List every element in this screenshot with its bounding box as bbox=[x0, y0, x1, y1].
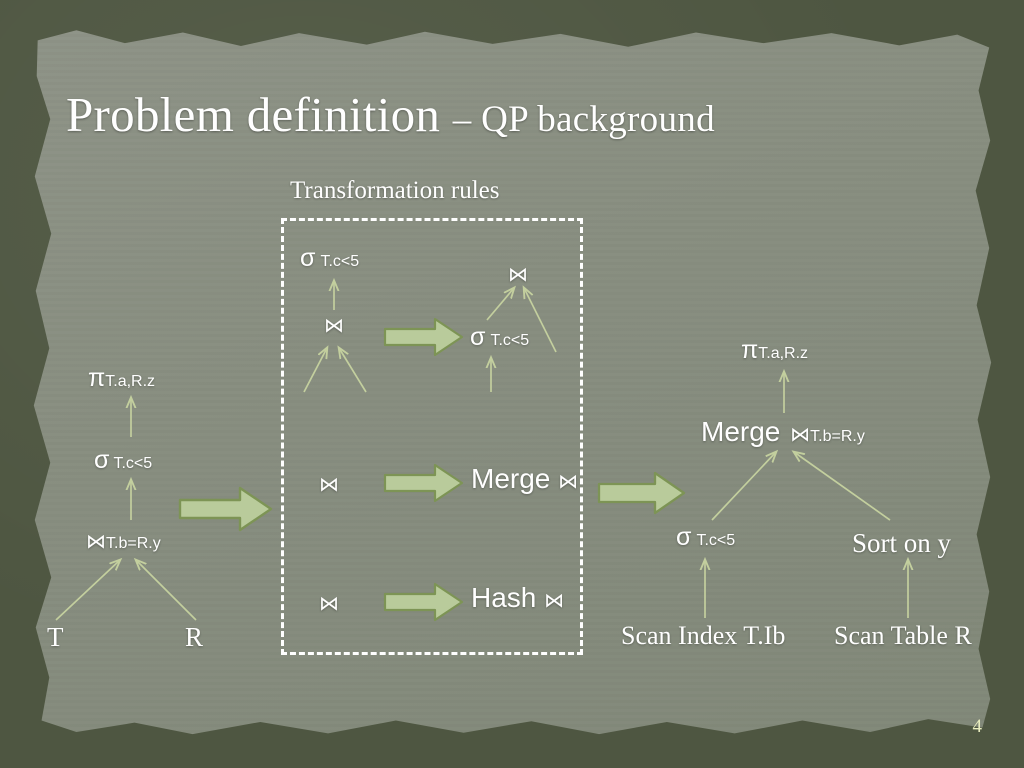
select-subscript: T.c<5 bbox=[490, 332, 529, 349]
right-plan-leaf-scan-table: Scan Table R bbox=[834, 621, 972, 651]
rule-1-lhs-join: ⋈ bbox=[324, 313, 344, 338]
right-plan-node-project: πT.a,R.z bbox=[741, 338, 808, 363]
rule-3-rhs-hash-join: Hash ⋈ bbox=[471, 582, 564, 614]
join-operator-icon: ⋈ bbox=[558, 471, 578, 493]
select-subscript: T.c<5 bbox=[696, 532, 735, 549]
merge-label: Merge bbox=[701, 416, 780, 447]
left-plan-node-select: σT.c<5 bbox=[94, 448, 152, 473]
left-plan-node-project: πT.a,R.z bbox=[88, 366, 155, 391]
project-subscript: T.a,R.z bbox=[105, 373, 155, 390]
merge-label: Merge bbox=[471, 463, 550, 494]
rule-1-rhs-select: σT.c<5 bbox=[470, 325, 529, 350]
join-subscript: T.b=R.y bbox=[810, 428, 865, 445]
select-operator-icon: σ bbox=[470, 323, 485, 351]
title-subtitle-text: QP background bbox=[481, 99, 715, 140]
right-plan-node-sort: Sort on y bbox=[852, 528, 951, 559]
title-dash: – bbox=[453, 99, 481, 140]
rule-2-lhs-join: ⋈ bbox=[319, 472, 339, 497]
left-plan-leaf-t: T bbox=[47, 622, 64, 653]
slide-canvas: Problem definition – QP background bbox=[0, 0, 1024, 768]
transition-arrow-2 bbox=[597, 470, 687, 516]
slide-content: Problem definition – QP background bbox=[0, 0, 1024, 768]
right-plan-node-select: σT.c<5 bbox=[676, 525, 735, 550]
page-number: 4 bbox=[973, 716, 983, 738]
join-operator-icon: ⋈ bbox=[86, 531, 106, 553]
rule-3-lhs-join: ⋈ bbox=[319, 591, 339, 616]
project-operator-icon: π bbox=[88, 364, 105, 392]
join-operator-icon: ⋈ bbox=[790, 424, 810, 446]
select-operator-icon: σ bbox=[300, 244, 315, 272]
hash-label: Hash bbox=[471, 582, 536, 613]
select-subscript: T.c<5 bbox=[113, 455, 152, 472]
join-subscript: T.b=R.y bbox=[106, 535, 161, 552]
rule-2-rhs-merge-join: Merge ⋈ bbox=[471, 463, 578, 495]
title-main-text: Problem definition bbox=[66, 87, 453, 142]
rule-1-rhs-join: ⋈ bbox=[508, 262, 528, 287]
left-plan-leaf-r: R bbox=[185, 622, 203, 653]
project-operator-icon: π bbox=[741, 336, 758, 364]
right-plan-leaf-scan-index: Scan Index T.Ib bbox=[621, 621, 785, 651]
right-plan-node-merge-join: Merge ⋈T.b=R.y bbox=[701, 416, 865, 448]
left-plan-node-join: ⋈T.b=R.y bbox=[86, 529, 161, 554]
select-operator-icon: σ bbox=[94, 446, 109, 474]
join-operator-icon: ⋈ bbox=[544, 590, 564, 612]
select-subscript: T.c<5 bbox=[320, 253, 359, 270]
select-operator-icon: σ bbox=[676, 523, 691, 551]
rule-1-lhs-select: σT.c<5 bbox=[300, 246, 359, 271]
project-subscript: T.a,R.z bbox=[758, 345, 808, 362]
transformation-rules-caption: Transformation rules bbox=[290, 177, 499, 205]
page-title: Problem definition – QP background bbox=[66, 86, 715, 143]
transition-arrow-1 bbox=[178, 485, 274, 533]
